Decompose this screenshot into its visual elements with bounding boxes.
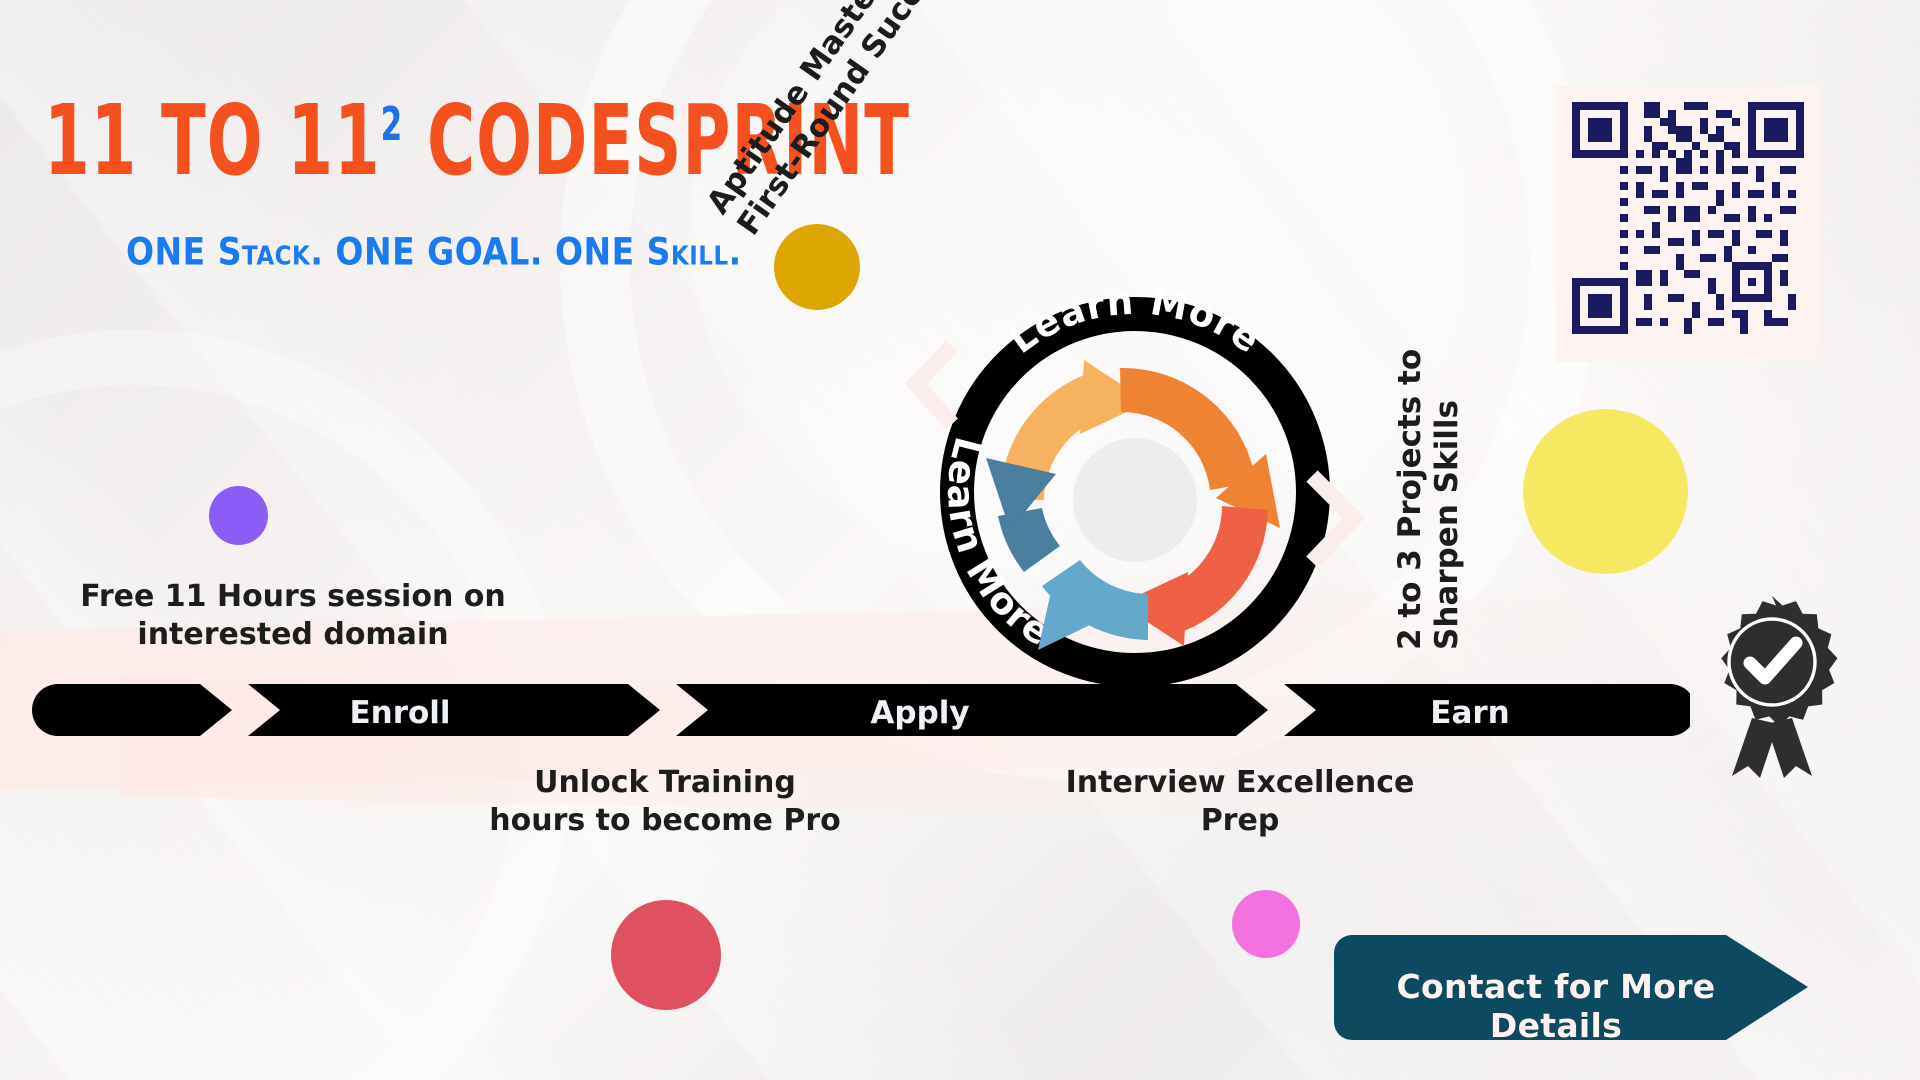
caption-line: hours to become Pro bbox=[455, 802, 875, 840]
timeline-label-earn[interactable]: Earn bbox=[1370, 695, 1570, 731]
award-ribbon-check-icon bbox=[1686, 590, 1858, 780]
chevron-step-1 bbox=[32, 684, 232, 736]
callout-right-line2: Sharpen Skills bbox=[1429, 349, 1466, 650]
ring-notch-left bbox=[880, 340, 960, 430]
qr-code-icon[interactable] bbox=[1572, 102, 1804, 334]
cycle-arrows-diagram bbox=[980, 350, 1290, 650]
caption-line: Free 11 Hours session on bbox=[58, 578, 528, 616]
callout-right-line1: 2 to 3 Projects to bbox=[1392, 349, 1429, 650]
caption-line: Interview Excellence bbox=[1050, 764, 1430, 802]
title-superscript: 2 bbox=[381, 99, 404, 151]
poster-canvas: 11 TO 112 CODESPRINT ONE Stack. ONE GOAL… bbox=[0, 0, 1920, 1080]
decorative-circle-red bbox=[611, 900, 721, 1010]
cycle-arrow-steel-blue bbox=[986, 458, 1060, 572]
tagline: ONE Stack. ONE GOAL. ONE Skill. bbox=[126, 230, 742, 274]
decorative-circle-yellow bbox=[1523, 409, 1688, 574]
callout-projects: 2 to 3 Projects to Sharpen Skills bbox=[1392, 349, 1466, 650]
title-main: 11 TO 11 bbox=[44, 83, 381, 197]
cycle-arrow-light-blue bbox=[1038, 560, 1148, 650]
decorative-circle-gold bbox=[774, 224, 860, 310]
contact-for-more-details-button[interactable] bbox=[1334, 935, 1810, 1040]
timeline-label-apply[interactable]: Apply bbox=[820, 695, 1020, 731]
ring-notch-right bbox=[1300, 470, 1390, 570]
step-caption-free-hours: Free 11 Hours session on interested doma… bbox=[58, 578, 528, 655]
caption-line: Unlock Training bbox=[455, 764, 875, 802]
caption-line: interested domain bbox=[58, 616, 528, 654]
step-caption-interview-prep: Interview Excellence Prep bbox=[1050, 764, 1430, 841]
decorative-circle-purple bbox=[209, 486, 268, 545]
decorative-circle-magenta bbox=[1232, 890, 1300, 958]
timeline-label-enroll[interactable]: Enroll bbox=[300, 695, 500, 731]
step-caption-unlock-training: Unlock Training hours to become Pro bbox=[455, 764, 875, 841]
caption-line: Prep bbox=[1050, 802, 1430, 840]
